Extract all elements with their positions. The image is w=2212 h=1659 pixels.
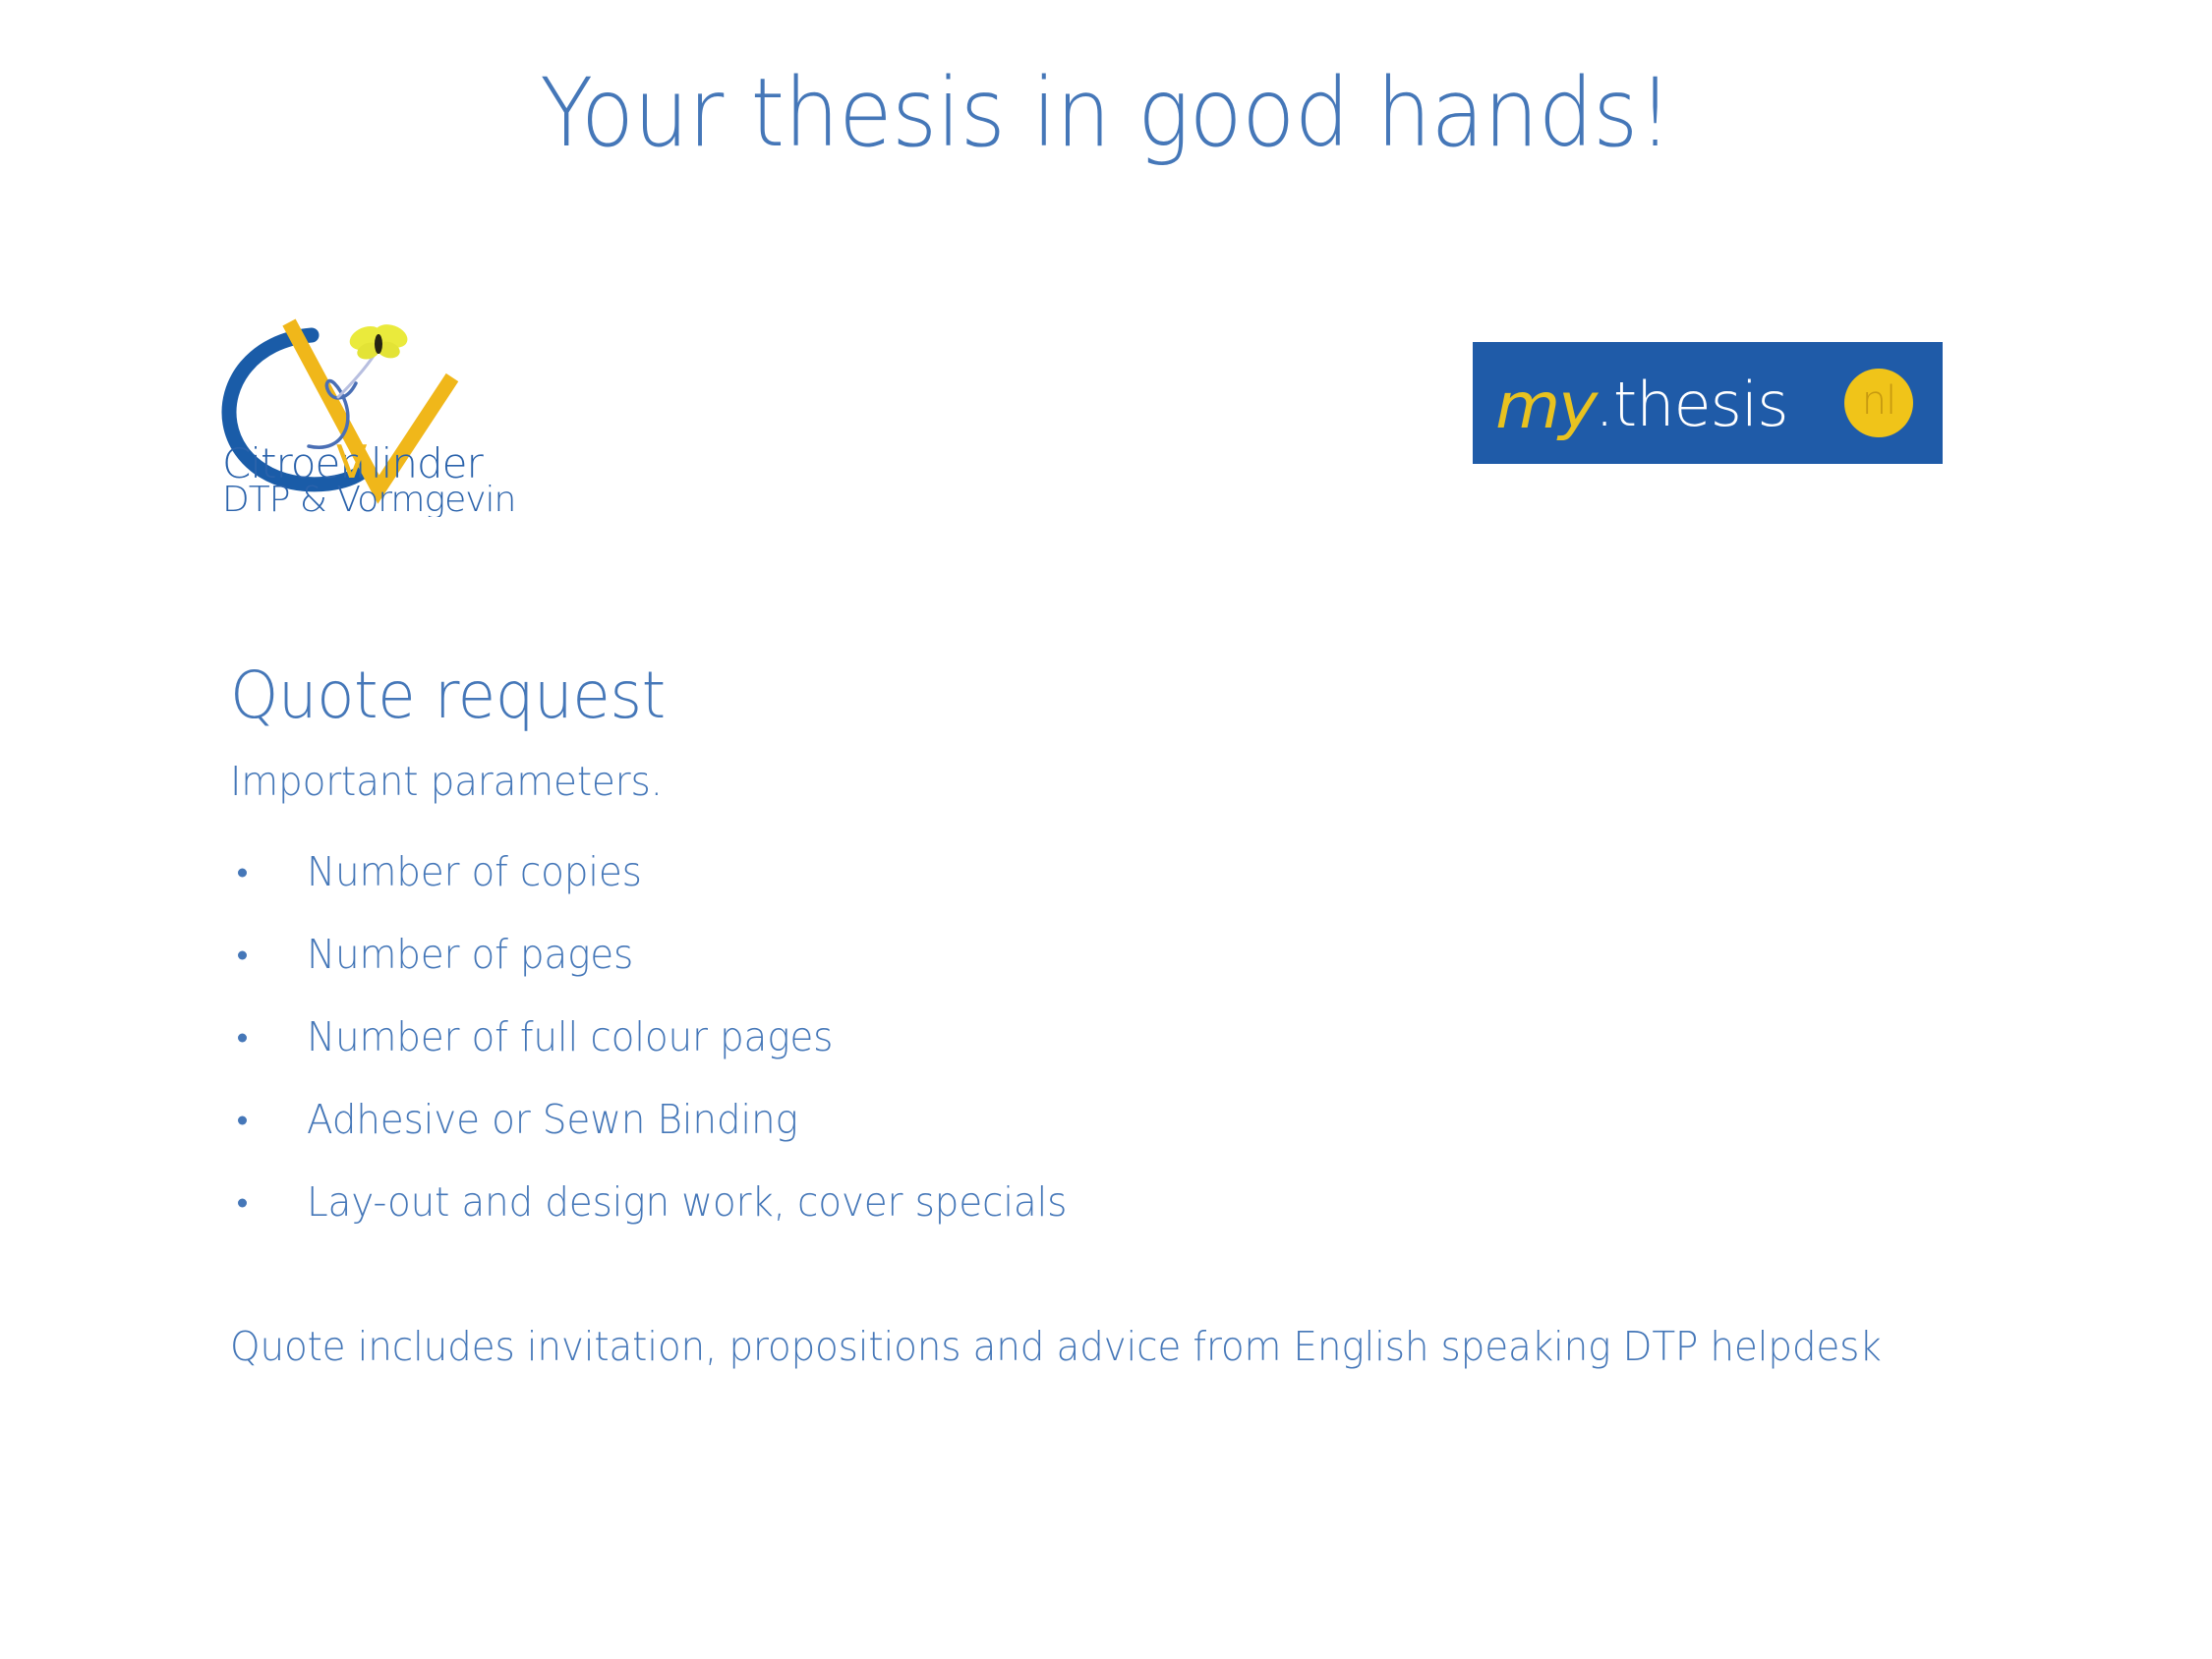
bullet-dot-icon — [238, 1198, 247, 1207]
mythesis-logo: my .thesis nl — [1473, 342, 1943, 464]
svg-text:DTP & Vormgeving: DTP & Vormgeving — [222, 480, 513, 517]
list-item: Lay-out and design work, cover specials — [230, 1162, 2000, 1244]
list-item: Number of copies — [230, 831, 2000, 914]
bullet-dot-icon — [238, 1033, 247, 1042]
list-item: Number of pages — [230, 914, 2000, 997]
citroenvlinder-v-glyph: V — [336, 435, 368, 488]
list-item-label: Lay-out and design work, cover specials — [307, 1178, 1067, 1227]
mythesis-tld-badge: nl — [1844, 369, 1913, 437]
mythesis-my-text: my — [1495, 375, 1596, 438]
content-block: Quote request Important parameters. Numb… — [230, 660, 2000, 1371]
butterfly-icon — [346, 320, 411, 362]
slide-canvas: Your thesis in good hands! Citroen linde… — [0, 0, 2212, 1659]
lead-text: Important parameters. — [230, 758, 1911, 806]
mythesis-thesis-text: .thesis — [1595, 374, 1787, 435]
bullet-dot-icon — [238, 950, 247, 959]
closing-text: Quote includes invitation, propositions … — [230, 1323, 1911, 1371]
page-title: Your thesis in good hands! — [88, 64, 2124, 163]
list-item: Number of full colour pages — [230, 997, 2000, 1079]
section-heading: Quote request — [230, 660, 1911, 732]
bullet-dot-icon — [238, 1116, 247, 1124]
citroenvlinder-logo: Citroen linder DTP & Vormgeving V — [218, 281, 513, 517]
list-item: Adhesive or Sewn Binding — [230, 1079, 2000, 1162]
parameters-list: Number of copies Number of pages Number … — [230, 831, 2000, 1244]
list-item-label: Number of copies — [307, 848, 642, 896]
bullet-dot-icon — [238, 868, 247, 877]
list-item-label: Number of pages — [307, 931, 633, 979]
list-item-label: Number of full colour pages — [307, 1013, 833, 1061]
list-item-label: Adhesive or Sewn Binding — [307, 1096, 798, 1144]
